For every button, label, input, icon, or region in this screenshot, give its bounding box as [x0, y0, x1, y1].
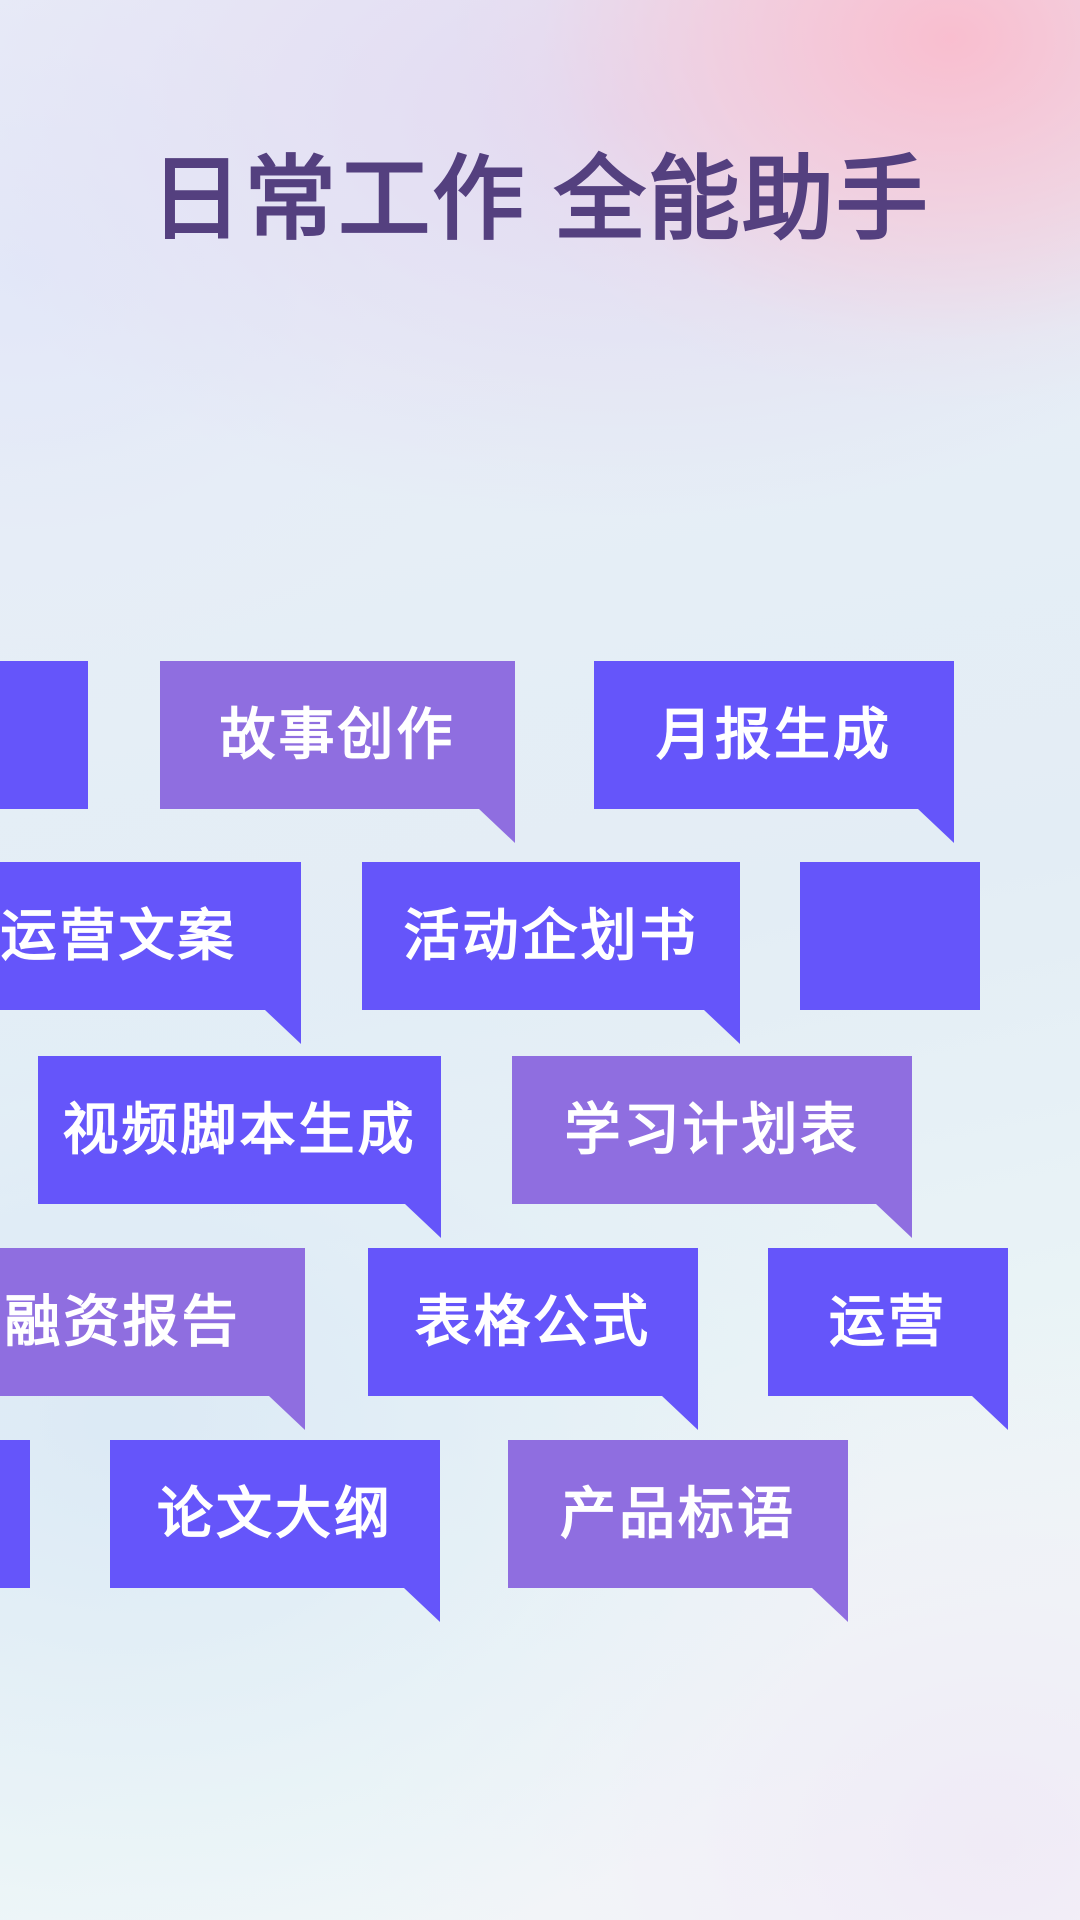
bubble-chip-label: 产品标语 — [560, 1486, 796, 1542]
bubble-row: 融资报告表格公式运营 — [0, 1248, 1080, 1428]
bubble-row-inner: 论文大纲产品标语 — [0, 1440, 1080, 1620]
bubble-chip[interactable]: 运营文案 — [0, 862, 301, 1010]
bubble-chip[interactable]: 运营 — [768, 1248, 1008, 1396]
bubble-row: 故事创作月报生成 — [0, 661, 1080, 841]
bubble-row-inner: 故事创作月报生成 — [0, 661, 1080, 841]
bubble-chip-partial[interactable] — [0, 1440, 30, 1588]
bubble-chip[interactable]: 活动企划书 — [362, 862, 740, 1010]
bubble-chip[interactable]: 表格公式 — [368, 1248, 698, 1396]
bubble-chip[interactable]: 产品标语 — [508, 1440, 848, 1588]
bubble-chip-partial[interactable] — [0, 661, 88, 809]
bubble-chip-label: 运营 — [829, 1294, 947, 1350]
bubble-chip-label: 月报生成 — [656, 707, 892, 763]
bubble-chip-label: 活动企划书 — [404, 908, 699, 964]
bubble-chip[interactable]: 学习计划表 — [512, 1056, 912, 1204]
bubble-chip[interactable]: 视频脚本生成 — [38, 1056, 441, 1204]
promo-screen: 日常工作 全能助手 故事创作月报生成运营文案活动企划书视频脚本生成学习计划表融资… — [0, 0, 1080, 1920]
bubble-row-inner: 融资报告表格公式运营 — [0, 1248, 1080, 1428]
bubble-chip-label: 论文大纲 — [157, 1486, 393, 1542]
page-title: 日常工作 全能助手 — [0, 150, 1080, 251]
title-area: 日常工作 全能助手 — [0, 150, 1080, 251]
bubble-chip[interactable]: 月报生成 — [594, 661, 954, 809]
bubble-chip[interactable]: 故事创作 — [160, 661, 515, 809]
bubble-chip-label: 融资报告 — [5, 1294, 241, 1350]
bubble-chip[interactable]: 融资报告 — [0, 1248, 305, 1396]
bubble-chip-label: 运营文案 — [1, 908, 237, 964]
bubble-chip[interactable]: 论文大纲 — [110, 1440, 440, 1588]
bubble-row: 运营文案活动企划书 — [0, 862, 1080, 1042]
bubble-chip-partial[interactable] — [800, 862, 980, 1010]
bubble-row: 论文大纲产品标语 — [0, 1440, 1080, 1620]
bubble-chip-label: 学习计划表 — [565, 1102, 860, 1158]
bubble-chip-label: 视频脚本生成 — [63, 1102, 417, 1158]
bubble-row-inner: 视频脚本生成学习计划表 — [0, 1056, 1080, 1236]
bubble-chip-label: 表格公式 — [415, 1294, 651, 1350]
bubble-chip-label: 故事创作 — [220, 707, 456, 763]
bubble-row-inner: 运营文案活动企划书 — [0, 862, 1080, 1042]
bubble-row: 视频脚本生成学习计划表 — [0, 1056, 1080, 1236]
